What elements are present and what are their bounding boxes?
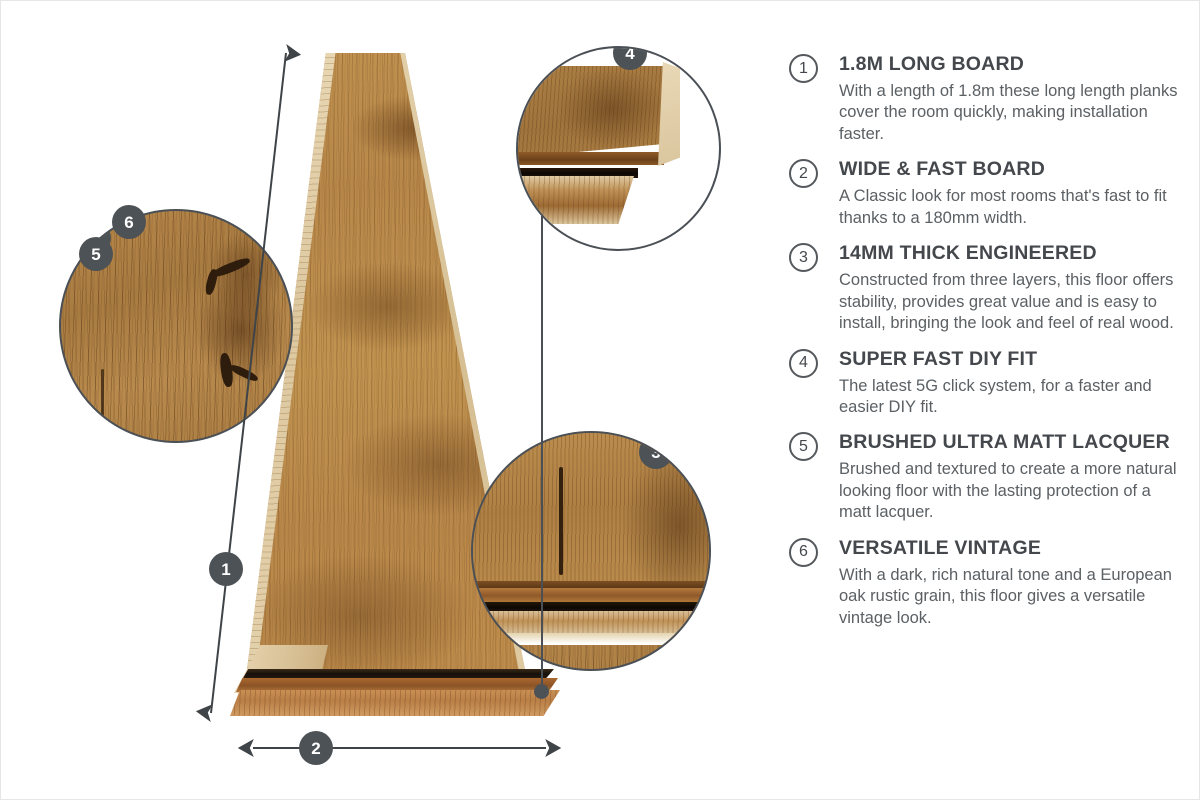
magnified-knot-lower-branch [229,363,259,383]
magnified-layer-surface [473,433,711,583]
feature-item-1: 1 1.8M LONG BOARD With a length of 1.8m … [789,53,1179,145]
magnifier-click-system: 4 [516,46,721,251]
feature-number-1: 1 [789,54,818,83]
feature-number-6: 6 [789,538,818,567]
magnified-lower-plank [516,176,634,224]
badge-3[interactable]: 3 [639,435,673,469]
feature-description-5: Brushed and textured to create a more na… [839,459,1179,523]
feature-description-6: With a dark, rich natural tone and a Eur… [839,565,1179,629]
feature-description-1: With a length of 1.8m these long length … [839,81,1179,145]
feature-title-5: BRUSHED ULTRA MATT LACQUER [839,431,1179,454]
feature-number-3: 3 [789,243,818,272]
feature-title-2: WIDE & FAST BOARD [839,158,1179,181]
feature-number-2: 2 [789,159,818,188]
magnified-dark-groove [473,602,711,611]
leader-dot-click-detail [534,684,549,699]
badge-6-pin[interactable]: 6 [112,205,146,239]
magnified-backing-layer [473,611,711,633]
infographic-canvas: 4 3 6 5 6 5 [0,0,1200,800]
magnified-wear-layer-line [473,581,711,588]
badge-1[interactable]: 1 [209,552,243,586]
feature-item-4: 4 SUPER FAST DIY FIT The latest 5G click… [789,348,1179,419]
feature-description-3: Constructed from three layers, this floo… [839,270,1179,334]
feature-title-4: SUPER FAST DIY FIT [839,348,1179,371]
feature-title-3: 14MM THICK ENGINEERED [839,242,1179,265]
feature-item-2: 2 WIDE & FAST BOARD A Classic look for m… [789,158,1179,229]
badge-5-pin[interactable]: 5 [79,237,113,271]
magnifier-layer-thickness: 3 [471,431,711,671]
badge-2[interactable]: 2 [299,731,333,765]
plank-middle-layer [236,678,558,692]
plank-backing-layer [230,690,560,716]
feature-number-5: 5 [789,432,818,461]
feature-description-4: The latest 5G click system, for a faster… [839,376,1179,419]
product-visual-panel: 4 3 6 5 6 5 [1,1,771,800]
feature-item-3: 3 14MM THICK ENGINEERED Constructed from… [789,242,1179,334]
magnified-grain-split [101,369,104,425]
magnified-plank-end-grain [516,152,664,165]
feature-item-6: 6 VERSATILE VINTAGE With a dark, rich na… [789,537,1179,629]
feature-title-6: VERSATILE VINTAGE [839,537,1179,560]
magnified-core-layer [473,588,711,602]
magnified-knot-upper-tail [204,268,219,295]
leader-line-click-detail [541,216,543,694]
feature-title-1: 1.8M LONG BOARD [839,53,1179,76]
feature-number-4: 4 [789,349,818,378]
feature-description-2: A Classic look for most rooms that's fas… [839,186,1179,229]
magnified-base-shadow [473,633,711,645]
feature-list: 1 1.8M LONG BOARD With a length of 1.8m … [789,51,1179,642]
magnified-grain-crack [559,467,563,575]
feature-item-5: 5 BRUSHED ULTRA MATT LACQUER Brushed and… [789,431,1179,523]
magnified-plank-edge [516,66,672,158]
